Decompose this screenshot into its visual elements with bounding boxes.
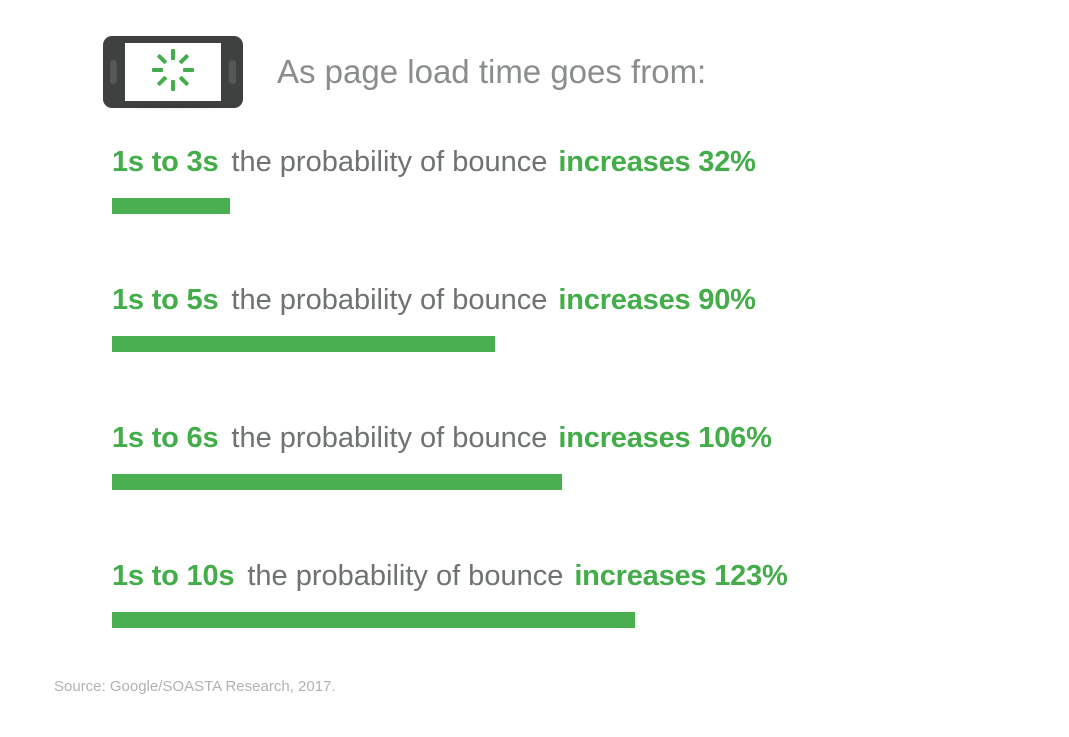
page-title: As page load time goes from: (277, 53, 706, 91)
stat-middle-label: the probability of bounce (218, 422, 558, 454)
stat-rows: 1s to 3sthe probability of bounceincreas… (112, 148, 1012, 700)
bar-track (112, 198, 1012, 214)
stat-range-label: 1s to 3s (112, 146, 218, 178)
stat-row-text: 1s to 10sthe probability of bounceincrea… (112, 562, 1012, 591)
phone-loading-icon (103, 36, 243, 108)
stat-row-text: 1s to 6sthe probability of bounceincreas… (112, 424, 1012, 453)
stat-result-label: increases 32% (558, 146, 755, 178)
bar-track (112, 612, 1012, 628)
stat-result-label: increases 106% (558, 422, 771, 454)
header: As page load time goes from: (103, 36, 706, 108)
bar-track (112, 336, 1012, 352)
bar-fill (112, 612, 635, 628)
stat-result-label: increases 123% (574, 560, 787, 592)
stat-range-label: 1s to 6s (112, 422, 218, 454)
stat-range-label: 1s to 10s (112, 560, 234, 592)
stat-row: 1s to 3sthe probability of bounceincreas… (112, 148, 1012, 286)
infographic-slide: As page load time goes from: 1s to 3sthe… (0, 0, 1069, 737)
bar-fill (112, 336, 495, 352)
stat-result-label: increases 90% (558, 284, 755, 316)
stat-row-text: 1s to 5sthe probability of bounceincreas… (112, 286, 1012, 315)
stat-middle-label: the probability of bounce (218, 146, 558, 178)
phone-speaker-right (229, 60, 236, 84)
stat-row: 1s to 6sthe probability of bounceincreas… (112, 424, 1012, 562)
stat-middle-label: the probability of bounce (218, 284, 558, 316)
stat-range-label: 1s to 5s (112, 284, 218, 316)
stat-middle-label: the probability of bounce (234, 560, 574, 592)
bar-fill (112, 198, 230, 214)
loading-spinner-icon (150, 47, 196, 93)
source-note: Source: Google/SOASTA Research, 2017. (54, 678, 336, 695)
stat-row-text: 1s to 3sthe probability of bounceincreas… (112, 148, 1012, 177)
phone-shadow (105, 102, 241, 111)
bar-fill (112, 474, 562, 490)
stat-row: 1s to 5sthe probability of bounceincreas… (112, 286, 1012, 424)
phone-speaker-left (110, 60, 117, 84)
bar-track (112, 474, 1012, 490)
